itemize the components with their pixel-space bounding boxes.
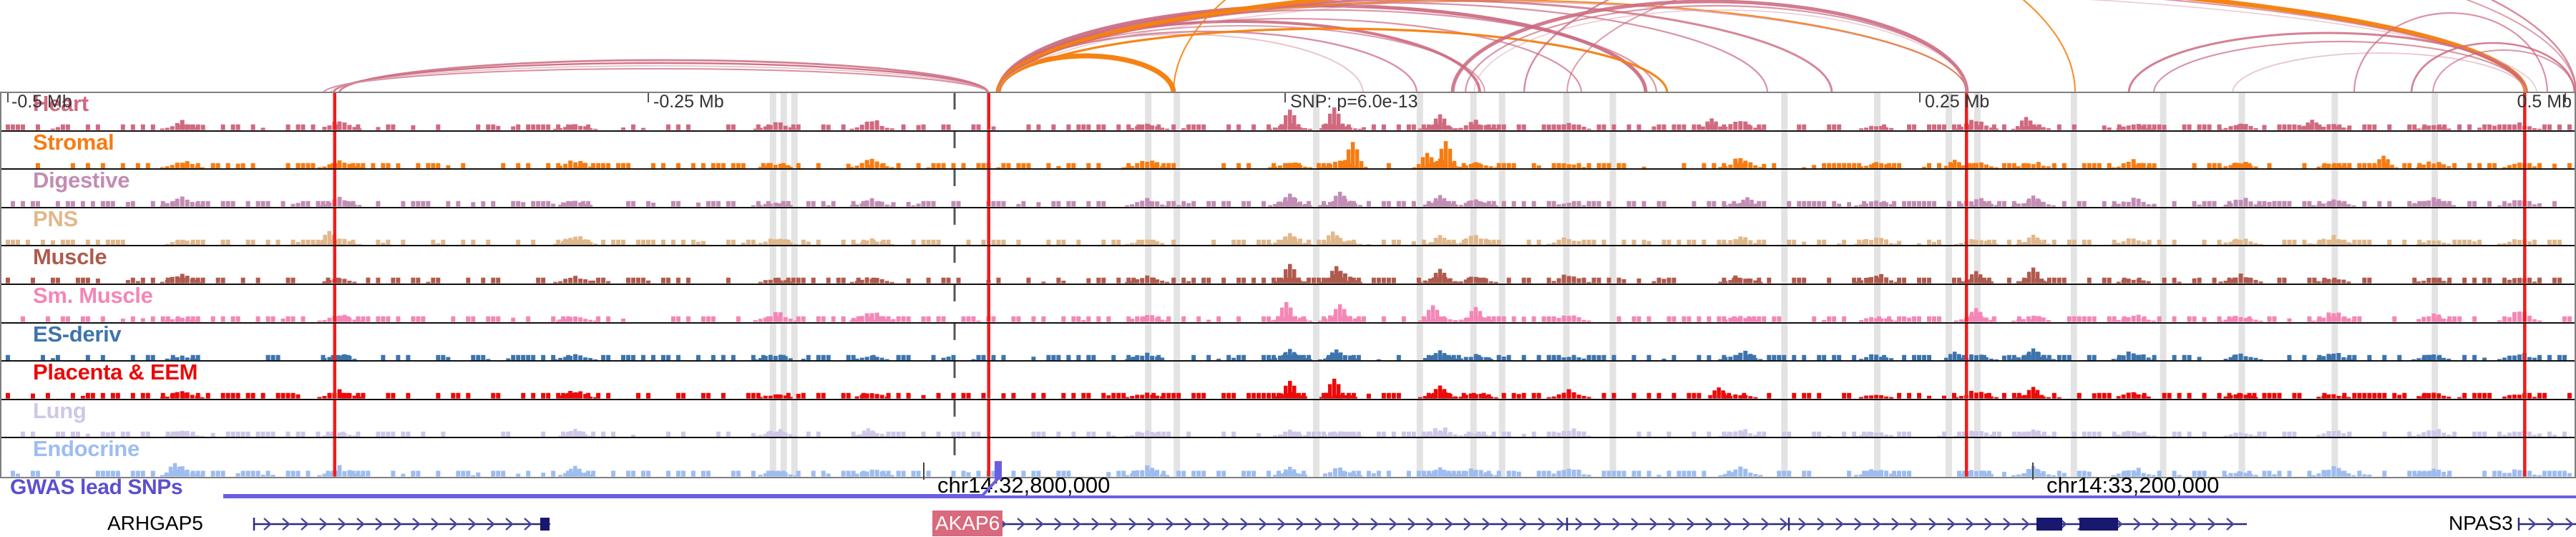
track-label-placenta-eem: Placenta & EEM [33,362,197,385]
track-row-lung[interactable]: Lung [1,400,2575,439]
track-row-heart[interactable]: Heart [1,93,2575,132]
signal-canvas [1,132,2575,169]
track-label-pns: PNS [33,208,78,232]
track-label-digestive: Digestive [33,170,130,193]
signal-svg [1,285,2575,322]
track-label-lung: Lung [33,400,87,424]
signal-svg [1,132,2575,169]
signal-canvas [1,285,2575,322]
gene-label-akap6[interactable]: AKAP6 [932,511,1002,536]
signal-canvas [1,170,2575,207]
annotation-panel: GWAS lead SNPs chr14:32,800,000chr14:33,… [0,478,2576,537]
track-label-sm-muscle: Sm. Muscle [33,285,153,309]
snp-connector [0,470,2576,498]
signal-canvas [1,208,2575,246]
signal-canvas [1,324,2575,361]
track-label-es-deriv: ES-deriv [33,324,121,347]
signal-svg [1,400,2575,437]
track-label-muscle: Muscle [33,246,107,270]
signal-svg [1,93,2575,130]
track-row-muscle[interactable]: Muscle [1,246,2575,285]
track-stack[interactable]: -0.5 Mb-0.25 MbSNP: p=6.0e-130.25 Mb0.5 … [0,92,2576,478]
track-row-stromal[interactable]: Stromal [1,132,2575,170]
track-row-pns[interactable]: PNS [1,208,2575,247]
signal-canvas [1,93,2575,130]
signal-svg [1,246,2575,284]
gene-model-svg [0,511,2576,537]
genome-browser: -0.5 Mb-0.25 MbSNP: p=6.0e-130.25 Mb0.5 … [0,0,2576,537]
signal-svg [1,208,2575,246]
chromatin-loop-arc-panel [0,0,2576,93]
signal-canvas [1,400,2575,437]
gene-label-npas3[interactable]: NPAS3 [2449,511,2513,536]
track-label-heart: Heart [33,93,89,117]
signal-svg [1,324,2575,361]
signal-canvas [1,362,2575,399]
track-label-endocrine: Endocrine [33,438,140,462]
arc-svg [0,0,2576,93]
signal-svg [1,362,2575,399]
gene-label-arhgap5[interactable]: ARHGAP5 [107,511,203,536]
track-row-es-deriv[interactable]: ES-deriv [1,324,2575,362]
track-row-digestive[interactable]: Digestive [1,170,2575,208]
track-label-stromal: Stromal [33,132,114,155]
track-row-sm-muscle[interactable]: Sm. Muscle [1,285,2575,324]
signal-svg [1,170,2575,207]
signal-canvas [1,246,2575,284]
gene-track[interactable]: ARHGAP5AKAP6NPAS3 [0,511,2576,537]
track-row-placenta-eem[interactable]: Placenta & EEM [1,362,2575,400]
